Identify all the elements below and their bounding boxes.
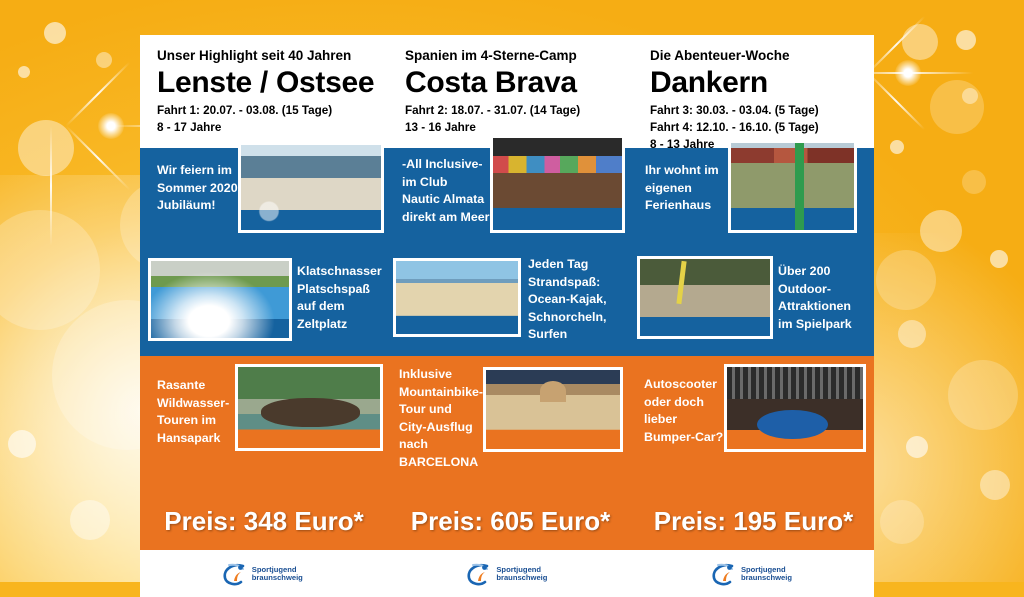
bokeh-circle [930,80,984,134]
bokeh-circle [956,30,976,50]
sportjugend-logo: Sportjugend braunschweig [711,561,792,587]
photo-wildwater-raft [235,364,383,451]
sportjugend-swoosh-icon [466,561,492,587]
bokeh-circle [920,210,962,252]
column-date-line: Fahrt 3: 30.03. - 03.04. (5 Tage) [650,103,874,120]
column-kicker: Spanien im 4-Sterne-Camp [405,48,633,65]
flyer-panel: Unser Highlight seit 40 Jahren Lenste / … [140,35,874,552]
price-costa-brava: Preis: 605 Euro* [388,508,633,534]
title-column-costa-brava: Spanien im 4-Sterne-Camp Costa Brava Fah… [388,48,633,148]
bokeh-circle [948,360,1018,430]
sportjugend-swoosh-icon [711,561,737,587]
column-title: Dankern [650,66,874,100]
bokeh-circle [980,470,1010,500]
sportjugend-logo-text: Sportjugend braunschweig [252,566,303,582]
bokeh-circle [880,500,924,544]
bokeh-circle [962,88,978,104]
bokeh-circle [18,120,74,176]
footer-logo-strip: Sportjugend braunschweig Sportjugend [140,550,874,597]
price-lenste: Preis: 348 Euro* [140,508,388,534]
orange-section: Rasante Wildwasser- Touren im Hansapark … [140,356,874,508]
bokeh-circle [890,140,904,154]
footer-logo-cell: Sportjugend braunschweig [140,561,385,587]
title-column-dankern: Die Abenteuer-Woche Dankern Fahrt 3: 30.… [633,48,874,148]
photo-bumper-car [724,364,866,452]
footer-logo-cell: Sportjugend braunschweig [629,561,874,587]
column-date-line: Fahrt 2: 18.07. - 31.07. (14 Tage) [405,103,633,120]
sportjugend-logo: Sportjugend braunschweig [222,561,303,587]
photo-zipline-playground [637,256,773,339]
column-kicker: Unser Highlight seit 40 Jahren [157,48,388,65]
bokeh-circle [8,430,36,458]
sportjugend-swoosh-icon [222,561,248,587]
column-kicker: Die Abenteuer-Woche [650,48,874,65]
sportjugend-logo-text: Sportjugend braunschweig [496,566,547,582]
bokeh-circle [96,52,112,68]
column-title: Costa Brava [405,66,633,100]
price-dankern: Preis: 195 Euro* [633,508,874,534]
bokeh-circle [902,24,938,60]
caption-strandspass: Jeden Tag Strandspaß: Ocean-Kajak, Schno… [528,256,638,344]
bokeh-circle [962,170,986,194]
blue-section: Wir feiern im Sommer 2020 Jubiläum! -All… [140,148,874,356]
bokeh-circle [18,66,30,78]
photo-water-splash [148,258,292,341]
photo-beach-girls-jumping [238,142,384,233]
bokeh-circle [990,250,1008,268]
caption-zeltplatz: Klatschnasser Platschspaß auf dem Zeltpl… [297,263,402,333]
column-age-line: 8 - 17 Jahre [157,120,388,137]
photo-club-tents [490,135,625,233]
column-date-line: Fahrt 1: 20.07. - 03.08. (15 Tage) [157,103,388,120]
bokeh-circle [876,250,936,310]
sportjugend-logo: Sportjugend braunschweig [466,561,547,587]
caption-spielpark: Über 200 Outdoor- Attraktionen im Spielp… [778,263,878,333]
title-band: Unser Highlight seit 40 Jahren Lenste / … [140,35,874,148]
footer-logo-cell: Sportjugend braunschweig [385,561,630,587]
title-column-lenste: Unser Highlight seit 40 Jahren Lenste / … [140,48,388,148]
photo-holiday-house-children [728,140,857,233]
sportjugend-logo-text: Sportjugend braunschweig [741,566,792,582]
bokeh-circle [44,22,66,44]
price-strip: Preis: 348 Euro* Preis: 605 Euro* Preis:… [140,508,874,550]
bokeh-circle [70,500,110,540]
photo-beach-crowd [393,258,521,337]
photo-barcelona-palace [483,367,623,452]
bokeh-circle [898,320,926,348]
column-date-line: Fahrt 4: 12.10. - 16.10. (5 Tage) [650,120,874,137]
column-title: Lenste / Ostsee [157,66,388,100]
bokeh-circle [906,436,928,458]
